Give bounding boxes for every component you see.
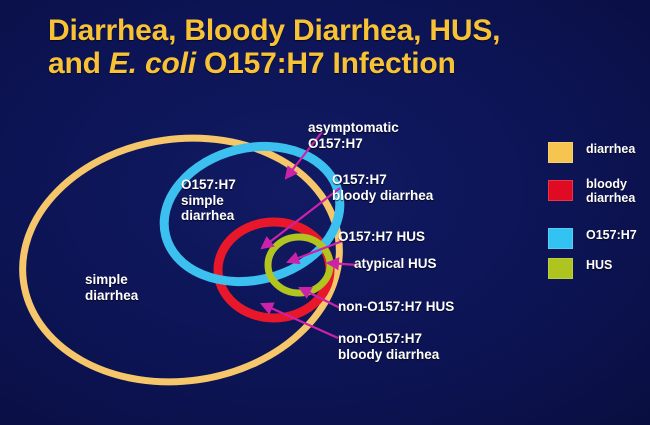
title-line-1: Diarrhea, Bloody Diarrhea, HUS, xyxy=(48,14,500,47)
title-line-2-prefix: and xyxy=(48,47,109,80)
label-non-o157-hus: non-O157:H7 HUS xyxy=(338,299,454,315)
legend-swatch-bloody-diarrhea xyxy=(548,180,573,201)
euler-diagram xyxy=(0,100,530,410)
title-species-italic: E. coli xyxy=(109,47,196,80)
legend-label-o157h7: O157:H7 xyxy=(586,228,637,242)
page-title: Diarrhea, Bloody Diarrhea, HUS, and E. c… xyxy=(48,14,628,80)
label-o157-hus: O157:H7 HUS xyxy=(338,229,425,245)
legend-swatch-hus xyxy=(548,258,573,279)
legend-swatch-diarrhea xyxy=(548,142,573,163)
legend-swatch-o157h7 xyxy=(548,228,573,249)
label-non-o157-bloody-diarrhea: non-O157:H7 bloody diarrhea xyxy=(338,331,439,362)
legend-label-diarrhea: diarrhea xyxy=(586,142,635,156)
label-asymptomatic-o157: asymptomatic O157:H7 xyxy=(308,120,399,151)
slide-canvas: Diarrhea, Bloody Diarrhea, HUS, and E. c… xyxy=(0,0,650,425)
legend-label-bloody-diarrhea: bloody diarrhea xyxy=(586,177,635,205)
label-o157-simple-diarrhea: O157:H7 simple diarrhea xyxy=(181,177,236,224)
title-line-2-suffix: O157:H7 Infection xyxy=(196,47,456,80)
label-atypical-hus: atypical HUS xyxy=(354,256,437,272)
label-simple-diarrhea: simple diarrhea xyxy=(85,272,138,303)
legend-label-hus: HUS xyxy=(586,258,612,272)
label-o157-bloody-diarrhea: O157:H7 bloody diarrhea xyxy=(332,172,433,203)
